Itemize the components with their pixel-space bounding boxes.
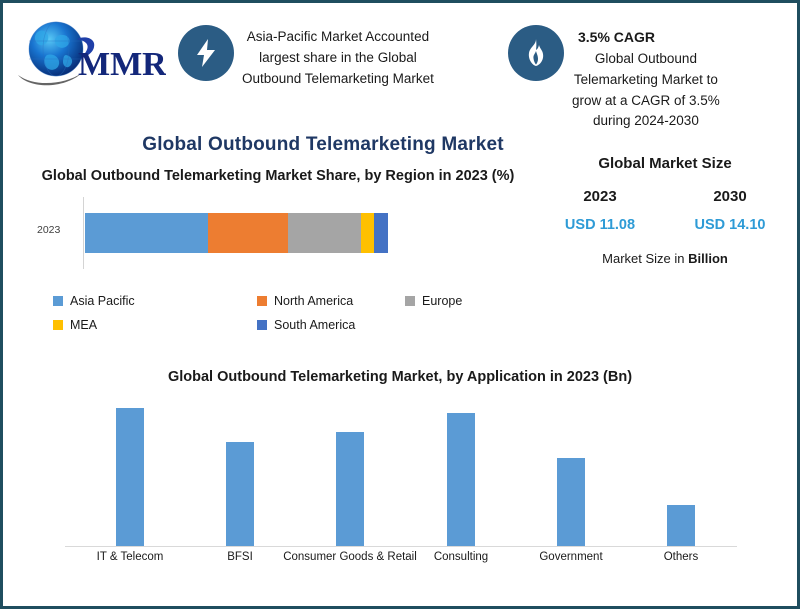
flame-icon [508,25,564,81]
header-region-line2: largest share in the Global [259,50,417,65]
lightning-bolt-icon [178,25,234,81]
header-region-line1: Asia-Pacific Market Accounted [247,29,429,44]
application-x-labels: IT & TelecomBFSIConsumer Goods & RetailC… [65,547,737,569]
legend-label: MEA [70,318,97,332]
globe-swoosh-logo: MMR [16,17,166,91]
lightning-bolt-glyph [193,38,219,68]
market-size-footnote: Market Size in Billion [533,251,797,266]
application-bar [226,442,254,546]
region-legend-item[interactable]: Europe [405,294,493,308]
market-size-footnote-prefix: Market Size in [602,251,688,266]
logo-wordmark: MMR [78,46,166,83]
application-chart-title: Global Outbound Telemarketing Market, by… [3,369,797,385]
region-segment [208,213,288,253]
legend-label: Europe [422,294,462,308]
page-title: Global Outbound Telemarketing Market [3,134,643,156]
region-segment [374,213,388,253]
region-legend-item[interactable]: South America [257,318,405,332]
region-segment [288,213,361,253]
application-bar [116,408,144,546]
market-size-2023: 2023 USD 11.08 [535,188,665,233]
application-bar [447,413,475,546]
header-highlight-cagr-text: 3.5% CAGR Global Outbound Telemarketing … [572,25,720,132]
header-highlight-cagr: 3.5% CAGR Global Outbound Telemarketing … [508,3,797,132]
legend-swatch [53,296,63,306]
header-highlight-region-text: Asia-Pacific Market Accounted largest sh… [242,25,434,90]
legend-swatch [257,320,267,330]
region-legend-item[interactable]: MEA [53,318,257,332]
application-bar [557,458,585,546]
header-region-line3: Outbound Telemarketing Market [242,71,434,86]
region-segment [361,213,375,253]
infographic-root: MMR Asia-Pacific Market Accounted larges… [0,0,800,609]
region-legend: Asia PacificNorth AmericaEuropeMEASouth … [53,294,493,342]
header-cagr-line4: during 2024-2030 [593,113,699,128]
application-x-label: BFSI [227,551,253,563]
legend-swatch [53,320,63,330]
region-legend-item[interactable]: Asia Pacific [53,294,257,308]
market-size-footnote-unit: Billion [688,251,728,266]
header-highlight-region: Asia-Pacific Market Accounted largest sh… [178,3,508,90]
application-x-label: Others [664,551,699,563]
region-stacked-bar [85,213,388,253]
header: MMR Asia-Pacific Market Accounted larges… [3,3,797,115]
application-x-label: Consumer Goods & Retail [283,551,417,563]
brand-logo: MMR [3,3,178,115]
region-segment [85,213,208,253]
market-size-2030-value: USD 14.10 [665,217,795,233]
market-size-heading: Global Market Size [533,155,797,172]
legend-label: Asia Pacific [70,294,135,308]
application-x-label: IT & Telecom [97,551,164,563]
header-cagr-line2: Telemarketing Market to [574,72,718,87]
legend-swatch [405,296,415,306]
region-axis-line [83,197,84,269]
region-category-label: 2023 [37,224,60,236]
market-size-years: 2023 USD 11.08 2030 USD 14.10 [533,188,797,233]
application-x-label: Consulting [434,551,488,563]
legend-swatch [257,296,267,306]
header-cagr-line1: Global Outbound [595,51,697,66]
region-chart-title: Global Outbound Telemarketing Market Sha… [3,166,523,187]
application-bar [667,505,695,547]
region-legend-item[interactable]: North America [257,294,405,308]
application-bar [336,432,364,546]
market-size-2030: 2030 USD 14.10 [665,188,795,233]
market-size-2023-year: 2023 [535,188,665,205]
market-size-2030-year: 2030 [665,188,795,205]
market-size-panel: Global Market Size 2023 USD 11.08 2030 U… [533,155,797,266]
legend-label: North America [274,294,353,308]
market-size-2023-value: USD 11.08 [535,217,665,233]
legend-label: South America [274,318,355,332]
region-chart-plot: 2023 [3,197,523,269]
cagr-heading: 3.5% CAGR [572,27,720,49]
application-bar-chart: Global Outbound Telemarketing Market, by… [3,369,797,584]
region-share-chart: Global Outbound Telemarketing Market Sha… [3,166,523,351]
application-x-label: Government [539,551,602,563]
application-chart-plot [65,397,737,547]
header-cagr-line3: grow at a CAGR of 3.5% [572,93,720,108]
flame-glyph [523,38,549,68]
